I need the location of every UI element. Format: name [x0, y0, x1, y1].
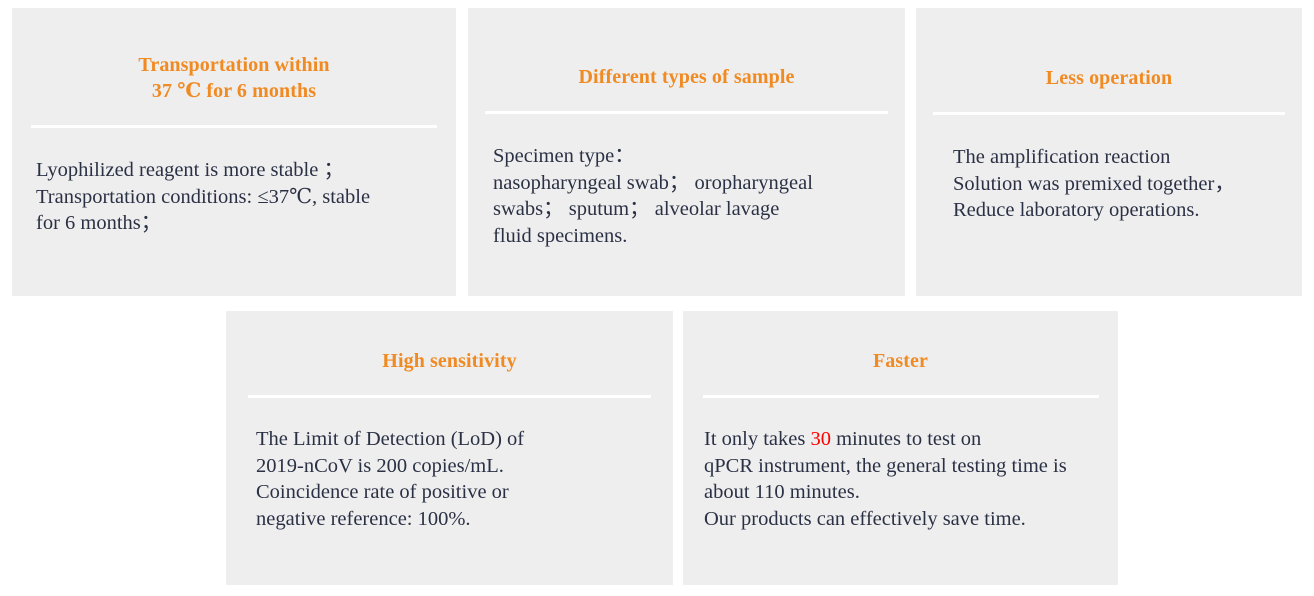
card-high-sensitivity-body: The Limit of Detection (LoD) of 2019-nCo… — [226, 398, 673, 532]
card-sample-types-title: Different types of sample — [468, 8, 905, 90]
card-sample-types: Different types of sample Specimen type：… — [468, 8, 905, 296]
feature-cards-board: Transportation within 37 ℃ for 6 months … — [0, 0, 1314, 596]
card-less-operation-title: Less operation — [916, 8, 1302, 91]
card-high-sensitivity-title: High sensitivity — [226, 311, 673, 374]
card-faster-body-text-before: It only takes — [704, 428, 810, 450]
card-transportation: Transportation within 37 ℃ for 6 months … — [12, 8, 456, 296]
card-transportation-title: Transportation within 37 ℃ for 6 months — [12, 8, 456, 104]
card-faster-minutes-highlight: 30 — [810, 428, 831, 450]
card-less-operation: Less operation The amplification reactio… — [916, 8, 1302, 296]
card-faster: Faster It only takes 30 minutes to test … — [683, 311, 1118, 585]
card-high-sensitivity: High sensitivity The Limit of Detection … — [226, 311, 673, 585]
card-faster-body: It only takes 30 minutes to test on qPCR… — [683, 398, 1118, 532]
card-less-operation-body: The amplification reaction Solution was … — [916, 115, 1302, 224]
card-faster-title: Faster — [683, 311, 1118, 374]
card-transportation-body: Lyophilized reagent is more stable ； Tra… — [12, 128, 456, 237]
card-sample-types-body: Specimen type： nasopharyngeal swab； orop… — [468, 114, 905, 249]
